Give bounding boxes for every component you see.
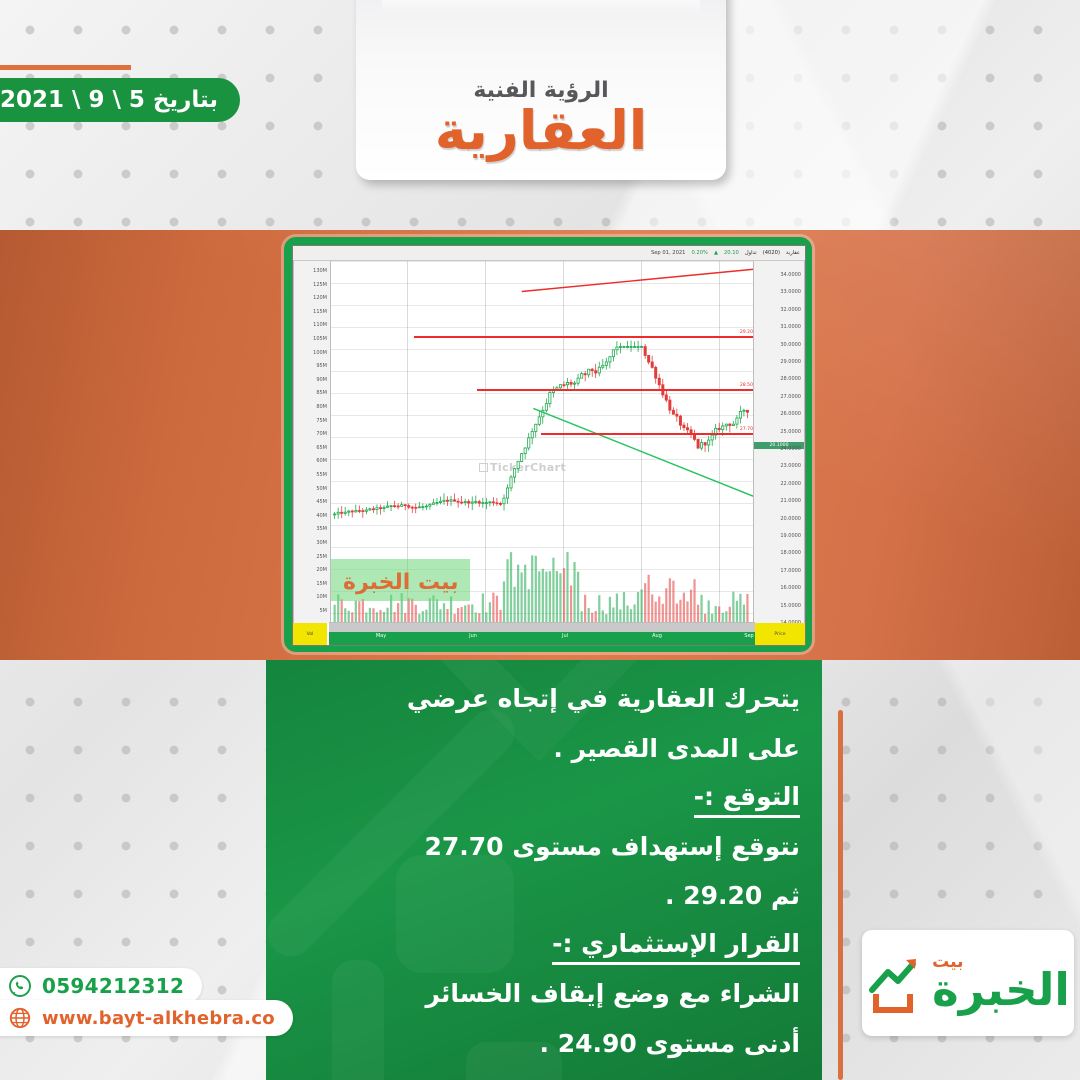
- resistance-label-2920: 29.20: [740, 330, 753, 335]
- price-tick: 34.0000: [780, 272, 801, 278]
- volume-tick: 130M: [313, 268, 327, 274]
- website-contact-pill[interactable]: www.bayt-alkhebra.co: [0, 1000, 293, 1036]
- month-tick: May: [376, 633, 386, 639]
- volume-tick: 55M: [316, 472, 327, 478]
- chart-symbol-ar: عقارية: [786, 250, 800, 256]
- price-tick: 21.0000: [780, 498, 801, 504]
- volume-tick: 25M: [316, 554, 327, 560]
- website-url: www.bayt-alkhebra.co: [42, 1008, 275, 1029]
- price-tick: 27.0000: [780, 394, 801, 400]
- volume-tick: 75M: [316, 418, 327, 424]
- support-label-2770: 27.70: [740, 427, 753, 432]
- chart-topbar: عقارية (4020) تداول 20.10 ▲ 0.20% Sep 01…: [293, 246, 805, 261]
- title-card: الرؤية الفنية العقارية: [356, 0, 726, 180]
- logo-big-text: الخبرة: [932, 967, 1070, 1012]
- price-tick: 29.0000: [780, 359, 801, 365]
- price-tick: 32.0000: [780, 307, 801, 313]
- phone-number: 0594212312: [42, 974, 184, 998]
- volume-tick: 20M: [316, 567, 327, 573]
- logo-house-arrow-icon: [866, 950, 928, 1016]
- volume-tick: 70M: [316, 431, 327, 437]
- analysis-text: يتحرك العقارية في إتجاه عرضي على المدى ا…: [288, 682, 800, 1077]
- price-tick: 20.0000: [780, 516, 801, 522]
- volume-tick: 110M: [313, 322, 327, 328]
- price-tick: 24.0000: [780, 446, 801, 452]
- resistance-line-2850: [477, 389, 755, 391]
- decision-header: القرار الإستثماري :-: [552, 929, 800, 965]
- forecast-header: التوقع :-: [694, 782, 800, 818]
- price-tick: 23.0000: [780, 463, 801, 469]
- chart-change-pct: 0.20%: [691, 250, 707, 256]
- chart-plot-area: TickerChart 29.20 28.50 27.70 بيت الخبرة: [329, 261, 755, 623]
- volume-tick: 35M: [316, 526, 327, 532]
- analysis-line-2: على المدى القصير .: [288, 732, 800, 766]
- phone-contact-pill[interactable]: 0594212312: [0, 968, 202, 1004]
- page-title: العقارية: [435, 105, 648, 158]
- volume-tick: 15M: [316, 581, 327, 587]
- up-arrow-icon: ▲: [714, 250, 718, 256]
- price-axis-corner-tag: Price: [755, 623, 805, 645]
- volume-tick: 10M: [316, 594, 327, 600]
- price-tick: 15.0000: [780, 603, 801, 609]
- price-tick: 26.0000: [780, 411, 801, 417]
- month-tick: Jun: [469, 633, 477, 639]
- forecast-line-2: ثم 29.20 .: [288, 879, 800, 913]
- price-tick: 31.0000: [780, 324, 801, 330]
- price-tick: 19.0000: [780, 533, 801, 539]
- price-tick: 18.0000: [780, 550, 801, 556]
- price-tick: 30.0000: [780, 342, 801, 348]
- globe-icon: [8, 1006, 32, 1030]
- decision-line-1: الشراء مع وضع إيقاف الخسائر: [288, 977, 800, 1011]
- volume-tick: 100M: [313, 350, 327, 356]
- chart-frame: عقارية (4020) تداول 20.10 ▲ 0.20% Sep 01…: [284, 237, 812, 652]
- volume-tick: 80M: [316, 404, 327, 410]
- date-axis-bar: [329, 623, 755, 632]
- month-tick: Aug: [652, 633, 662, 639]
- title-card-sheen: [382, 0, 700, 14]
- month-tick: Jul: [562, 633, 568, 639]
- logo-wordmark: بيت الخبرة: [932, 954, 1070, 1012]
- volume-tick: 85M: [316, 390, 327, 396]
- resistance-label-2850: 28.50: [740, 383, 753, 388]
- analysis-panel: يتحرك العقارية في إتجاه عرضي على المدى ا…: [266, 660, 822, 1080]
- forecast-line-1: نتوقع إستهداف مستوى 27.70: [288, 830, 800, 864]
- volume-tick: 105M: [313, 336, 327, 342]
- price-tick: 33.0000: [780, 289, 801, 295]
- volume-tick: 65M: [316, 445, 327, 451]
- chart-canvas[interactable]: عقارية (4020) تداول 20.10 ▲ 0.20% Sep 01…: [292, 245, 806, 646]
- volume-axis: 130M125M120M115M110M105M100M95M90M85M80M…: [293, 261, 331, 623]
- accent-bar: [0, 65, 131, 70]
- chart-date: Sep 01, 2021: [651, 250, 686, 256]
- volume-tick: 30M: [316, 540, 327, 546]
- analysis-line-1: يتحرك العقارية في إتجاه عرضي: [288, 682, 800, 716]
- volume-tick: 120M: [313, 295, 327, 301]
- vertical-separator: [838, 710, 843, 1080]
- volume-axis-corner-tag: Vol: [293, 623, 327, 645]
- month-tick: Sep: [744, 633, 753, 639]
- volume-tick: 5M: [320, 608, 328, 614]
- support-line-2770: [541, 433, 755, 435]
- decision-line-2: أدنى مستوى 24.90 .: [288, 1027, 800, 1061]
- price-tick: 17.0000: [780, 568, 801, 574]
- chart-last-price: 20.10: [724, 250, 739, 256]
- volume-tick: 95M: [316, 363, 327, 369]
- date-badge: بتاريخ 5 \ 9 \ 2021: [0, 78, 240, 122]
- brand-watermark-text: بيت الخبرة: [343, 570, 459, 595]
- resistance-line-2920: [414, 336, 755, 338]
- price-axis: 20.1000 34.000033.000032.000031.000030.0…: [753, 261, 805, 623]
- volume-tick: 40M: [316, 513, 327, 519]
- poster-root: بتاريخ 5 \ 9 \ 2021 الرؤية الفنية العقار…: [0, 0, 1080, 1080]
- price-tick: 16.0000: [780, 585, 801, 591]
- volume-tick: 115M: [313, 309, 327, 315]
- price-tick: 25.0000: [780, 429, 801, 435]
- date-axis: MayJunJulAugSep: [329, 622, 755, 645]
- chart-market: تداول: [745, 250, 757, 256]
- whatsapp-icon: [8, 974, 32, 998]
- volume-tick: 45M: [316, 499, 327, 505]
- volume-tick: 90M: [316, 377, 327, 383]
- price-tick: 28.0000: [780, 376, 801, 382]
- price-tick: 22.0000: [780, 481, 801, 487]
- volume-tick: 60M: [316, 458, 327, 464]
- chart-symbol-code: (4020): [763, 250, 780, 256]
- brand-logo: بيت الخبرة: [862, 930, 1074, 1036]
- volume-tick: 50M: [316, 486, 327, 492]
- volume-tick: 125M: [313, 282, 327, 288]
